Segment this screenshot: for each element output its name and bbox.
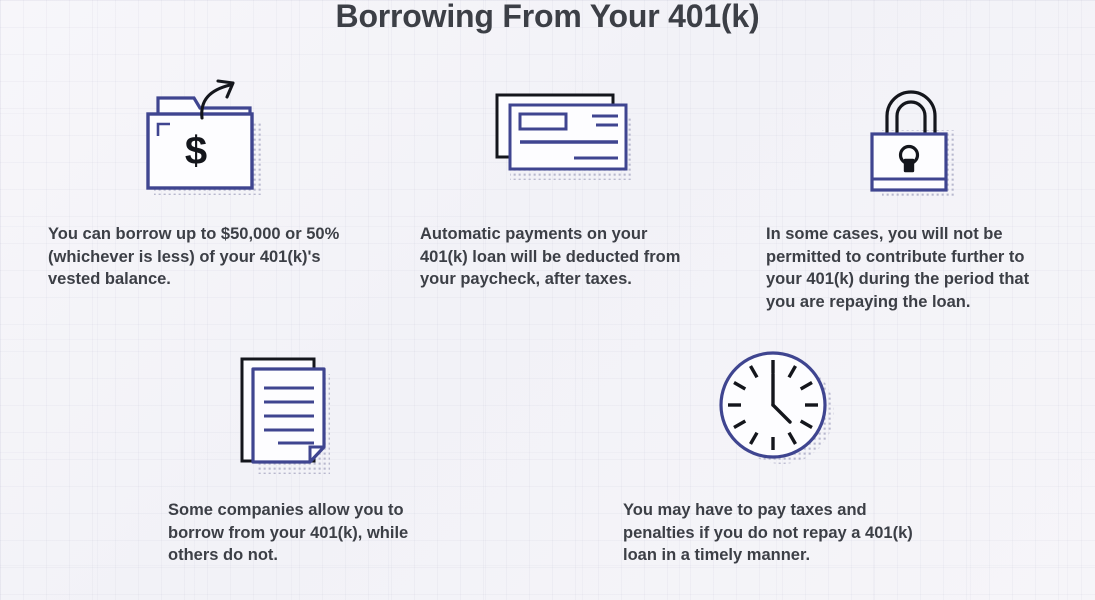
card-text: You may have to pay taxes and penalties … [623, 499, 943, 567]
svg-text:$: $ [185, 129, 207, 173]
card-contribution-restriction: In some cases, you will not be permitted… [766, 78, 1066, 313]
documents-icon [228, 352, 468, 482]
card-text: Automatic payments on your 401(k) loan w… [420, 223, 720, 291]
card-company-policy: Some companies allow you to borrow from … [168, 352, 468, 567]
clock-icon [718, 352, 943, 467]
card-repayment-timing: You may have to pay taxes and penalties … [623, 352, 943, 567]
padlock-icon [856, 78, 1066, 203]
folder-dollar-arrow-icon: $ [138, 78, 378, 203]
card-text: You can borrow up to $50,000 or 50% (whi… [48, 223, 378, 291]
card-text: In some cases, you will not be permitted… [766, 223, 1066, 313]
card-text: Some companies allow you to borrow from … [168, 499, 468, 567]
page-title: Borrowing From Your 401(k) [0, 0, 1095, 36]
card-automatic-payments: Automatic payments on your 401(k) loan w… [420, 78, 720, 291]
checks-icon [488, 78, 720, 203]
infographic-canvas: Borrowing From Your 401(k) $ [0, 0, 1095, 600]
card-borrow-limit: $ You can borrow up to $50,000 or 50% (w… [48, 78, 378, 291]
